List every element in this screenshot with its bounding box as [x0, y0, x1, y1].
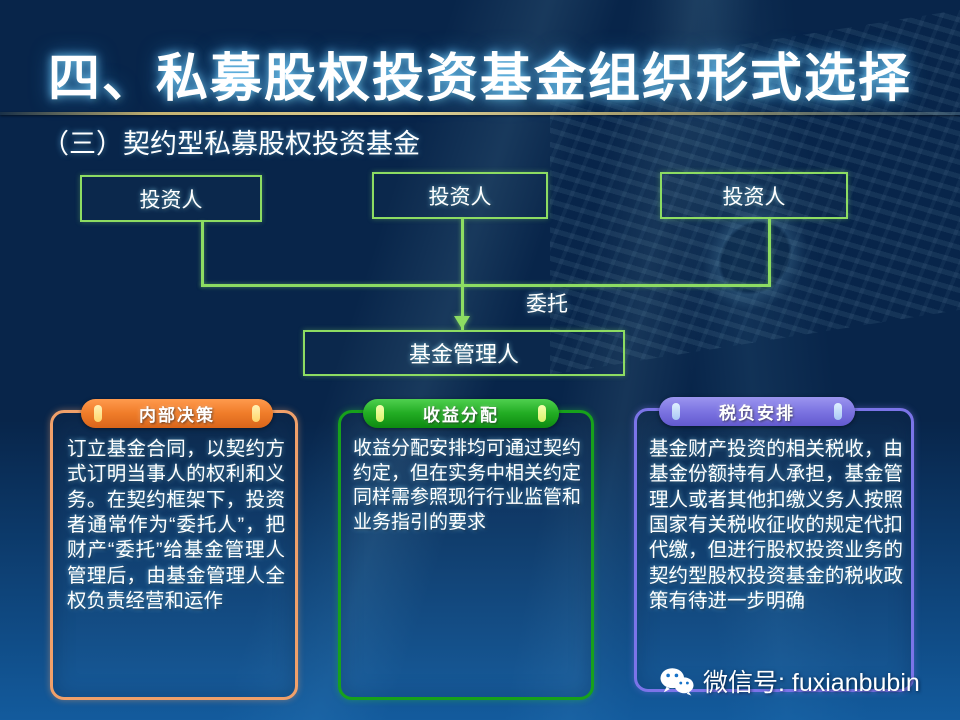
- panel-internal-decision: 内部决策 订立基金合同，以契约方式订明当事人的权利和义务。在契约框架下，投资者通…: [50, 410, 298, 700]
- panel-body-text: 订立基金合同，以契约方式订明当事人的权利和义务。在契约框架下，投资者通常作为“委…: [53, 437, 295, 614]
- connector-to-manager-vertical: [461, 219, 464, 330]
- flow-node-investor-2: 投资人: [372, 172, 548, 219]
- connector-investor-3-vertical: [768, 219, 771, 286]
- pill-capsule-right-icon: [252, 405, 260, 422]
- flow-node-label: 基金管理人: [409, 337, 519, 369]
- panel-header-label: 税负安排: [719, 399, 795, 424]
- pill-capsule-right-icon: [834, 403, 842, 420]
- wechat-icon: [660, 667, 694, 696]
- wechat-watermark: 微信号: fuxianbubin: [660, 663, 920, 699]
- org-flowchart: 投资人 投资人 投资人 委托 基金管理人: [0, 0, 960, 400]
- flow-node-label: 投资人: [723, 181, 786, 211]
- connector-label-entrust: 委托: [526, 288, 568, 318]
- flow-node-label: 投资人: [429, 181, 492, 211]
- flow-node-investor-1: 投资人: [80, 175, 262, 222]
- panel-header-label: 收益分配: [423, 401, 499, 426]
- connector-investor-1-vertical: [201, 222, 204, 286]
- panel-body-text: 收益分配安排均可通过契约约定，但在实务中相关约定同样需参照现行行业监管和业务指引…: [341, 437, 591, 536]
- arrowhead-icon: [454, 316, 470, 329]
- pill-capsule-left-icon: [672, 403, 680, 420]
- pill-capsule-right-icon: [538, 405, 546, 422]
- wechat-watermark-text: 微信号: fuxianbubin: [703, 663, 920, 699]
- slide-canvas: 四、私募股权投资基金组织形式选择 （三）契约型私募股权投资基金 投资人 投资人 …: [0, 0, 960, 720]
- flow-node-investor-3: 投资人: [660, 172, 848, 219]
- panel-header-label: 内部决策: [139, 401, 215, 426]
- panel-header-income-distribution: 收益分配: [363, 399, 559, 428]
- pill-capsule-left-icon: [94, 405, 102, 422]
- panel-body-text: 基金财产投资的相关税收，由基金份额持有人承担，基金管理人或者其他扣缴义务人按照国…: [637, 437, 911, 614]
- panel-header-tax-arrangement: 税负安排: [659, 397, 855, 426]
- pill-capsule-left-icon: [376, 405, 384, 422]
- panel-header-internal-decision: 内部决策: [81, 399, 273, 428]
- connector-horizontal-bus: [201, 284, 771, 287]
- flow-node-fund-manager: 基金管理人: [303, 330, 625, 376]
- panel-income-distribution: 收益分配 收益分配安排均可通过契约约定，但在实务中相关约定同样需参照现行行业监管…: [338, 410, 594, 700]
- panel-tax-arrangement: 税负安排 基金财产投资的相关税收，由基金份额持有人承担，基金管理人或者其他扣缴义…: [634, 408, 914, 692]
- flow-node-label: 投资人: [140, 184, 203, 214]
